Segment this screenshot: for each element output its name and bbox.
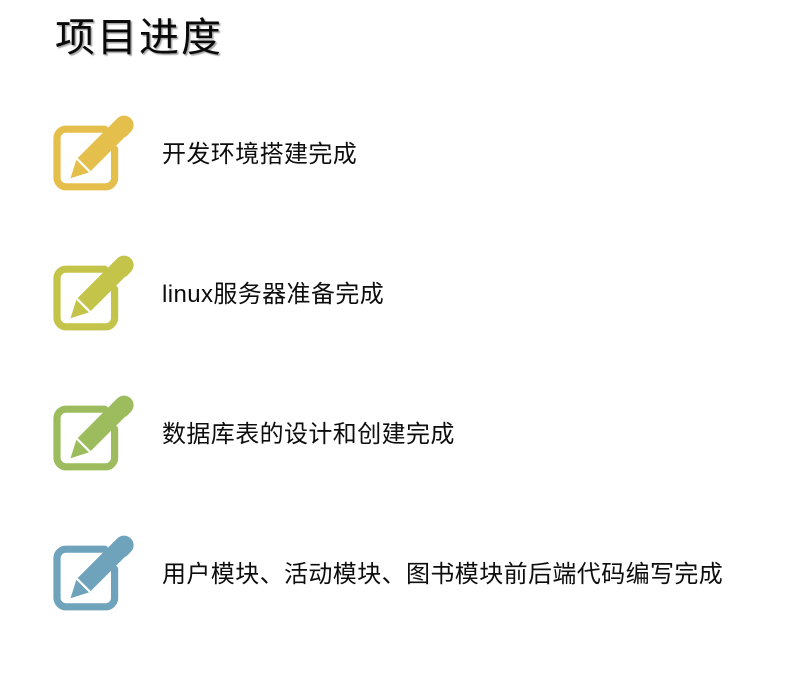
- list-item-label: 开发环境搭建完成: [162, 139, 357, 171]
- list-item[interactable]: linux服务器准备完成: [0, 253, 792, 393]
- page-title: 项目进度: [55, 12, 223, 64]
- pencil-square-icon: [48, 113, 140, 203]
- pencil-square-icon: [48, 253, 140, 343]
- pencil-square-icon: [48, 393, 140, 483]
- pencil-square-icon: [48, 533, 140, 623]
- list-item-label: 数据库表的设计和创建完成: [162, 419, 455, 451]
- list-item[interactable]: 数据库表的设计和创建完成: [0, 393, 792, 533]
- list-item-label: 用户模块、活动模块、图书模块前后端代码编写完成: [162, 559, 723, 591]
- list-item-label: linux服务器准备完成: [162, 279, 384, 311]
- progress-list: 开发环境搭建完成 linux服务器准备完成: [0, 113, 792, 673]
- slide-canvas: 项目进度 开发环境搭建完成: [0, 0, 792, 642]
- list-item[interactable]: 开发环境搭建完成: [0, 113, 792, 253]
- list-item[interactable]: 用户模块、活动模块、图书模块前后端代码编写完成: [0, 533, 792, 673]
